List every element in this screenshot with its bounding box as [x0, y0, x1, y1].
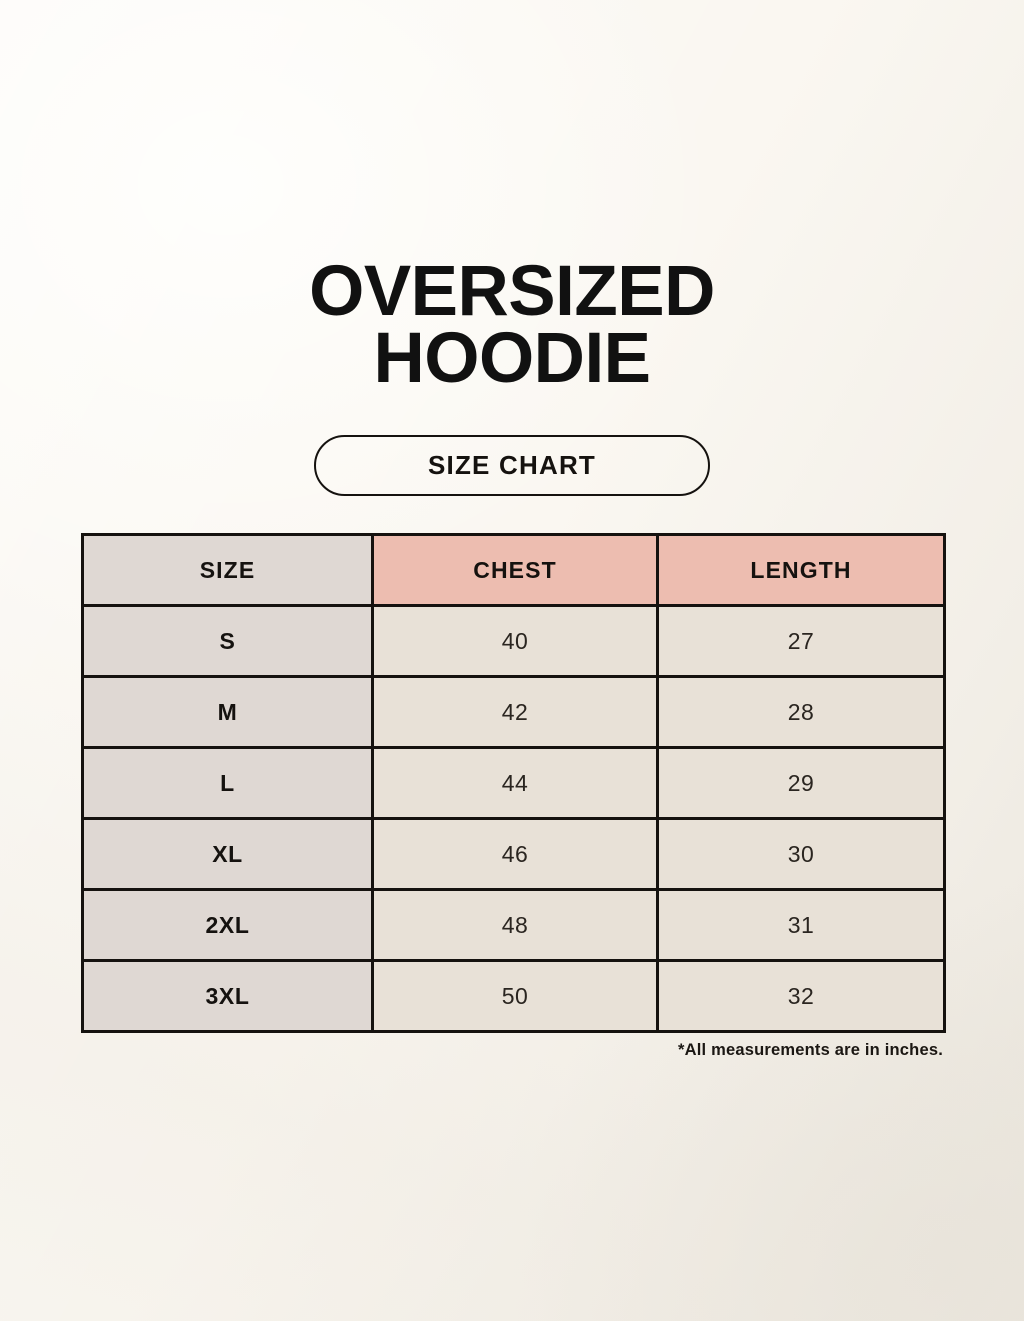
table-row: S 40 27 [83, 606, 945, 677]
cell-length: 27 [658, 606, 945, 677]
cell-size: S [83, 606, 373, 677]
cell-chest-value: 42 [502, 699, 528, 725]
product-title-line-2: HOODIE [0, 325, 1024, 392]
cell-chest-value: 44 [502, 770, 528, 796]
column-header-length-label: LENGTH [750, 557, 851, 583]
cell-length: 30 [658, 819, 945, 890]
size-chart-badge-container: SIZE CHART [0, 435, 1024, 496]
cell-length: 29 [658, 748, 945, 819]
cell-size-value: M [218, 699, 238, 725]
cell-length-value: 29 [788, 770, 814, 796]
table-row: M 42 28 [83, 677, 945, 748]
product-title-line-1: OVERSIZED [0, 258, 1024, 325]
cell-chest: 46 [373, 819, 658, 890]
cell-length: 28 [658, 677, 945, 748]
size-chart-badge: SIZE CHART [314, 435, 710, 496]
cell-length: 31 [658, 890, 945, 961]
product-title: OVERSIZED HOODIE [0, 258, 1024, 393]
cell-size: 3XL [83, 961, 373, 1032]
column-header-chest-label: CHEST [473, 557, 556, 583]
cell-length-value: 32 [788, 983, 814, 1009]
cell-size: L [83, 748, 373, 819]
cell-size-value: 3XL [206, 983, 250, 1009]
table-row: 2XL 48 31 [83, 890, 945, 961]
cell-chest: 40 [373, 606, 658, 677]
table-header-row: SIZE CHEST LENGTH [83, 535, 945, 606]
cell-chest: 44 [373, 748, 658, 819]
measurement-units-note: *All measurements are in inches. [81, 1041, 943, 1060]
cell-chest: 50 [373, 961, 658, 1032]
size-table: SIZE CHEST LENGTH S 40 [81, 533, 946, 1033]
cell-chest-value: 40 [502, 628, 528, 654]
cell-length-value: 30 [788, 841, 814, 867]
column-header-size: SIZE [83, 535, 373, 606]
size-table-head: SIZE CHEST LENGTH [83, 535, 945, 606]
cell-length-value: 28 [788, 699, 814, 725]
cell-size-value: 2XL [206, 912, 250, 938]
size-table-container: SIZE CHEST LENGTH S 40 [81, 533, 943, 1033]
size-chart-badge-label: SIZE CHART [428, 450, 596, 481]
cell-chest-value: 46 [502, 841, 528, 867]
cell-size-value: XL [212, 841, 243, 867]
column-header-chest: CHEST [373, 535, 658, 606]
column-header-length: LENGTH [658, 535, 945, 606]
size-table-body: S 40 27 M 42 [83, 606, 945, 1032]
page-title: OVERSIZED HOODIE [0, 258, 1024, 393]
cell-length-value: 27 [788, 628, 814, 654]
cell-chest: 48 [373, 890, 658, 961]
cell-chest-value: 50 [502, 983, 528, 1009]
cell-chest-value: 48 [502, 912, 528, 938]
cell-size: M [83, 677, 373, 748]
cell-size: 2XL [83, 890, 373, 961]
cell-chest: 42 [373, 677, 658, 748]
cell-length-value: 31 [788, 912, 814, 938]
table-row: L 44 29 [83, 748, 945, 819]
cell-length: 32 [658, 961, 945, 1032]
cell-size-value: S [220, 628, 236, 654]
cell-size-value: L [220, 770, 235, 796]
table-row: 3XL 50 32 [83, 961, 945, 1032]
table-row: XL 46 30 [83, 819, 945, 890]
column-header-size-label: SIZE [200, 557, 256, 583]
size-chart-page: OVERSIZED HOODIE SIZE CHART SIZE CHEST [0, 0, 1024, 1321]
cell-size: XL [83, 819, 373, 890]
